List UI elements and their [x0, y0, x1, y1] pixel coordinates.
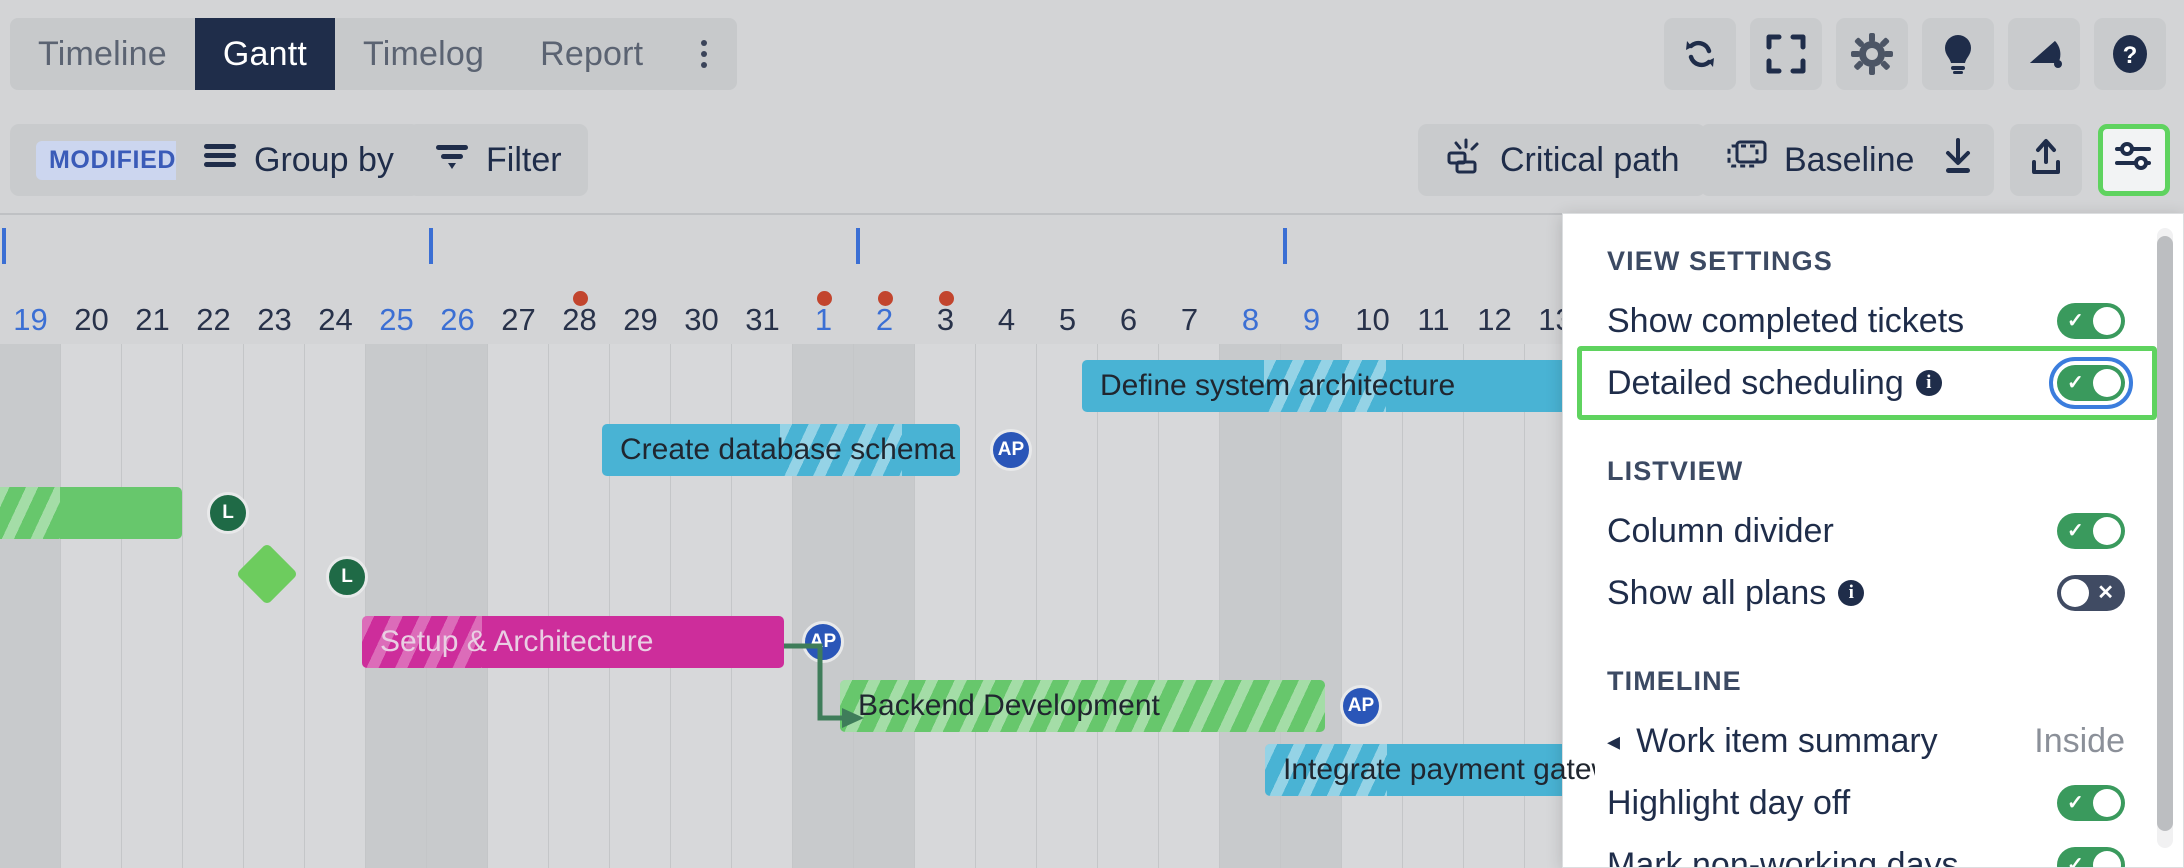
setting-label: Mark non-working days — [1607, 846, 1958, 868]
tab-bar: TimelineGanttTimelogReport ? — [0, 0, 2184, 108]
avatar[interactable]: L — [326, 556, 368, 598]
day-header: 11 — [1403, 279, 1464, 344]
day-header: 12 — [1464, 279, 1525, 344]
view-settings-panel: VIEW SETTINGSShow completed tickets✓Deta… — [1562, 213, 2184, 868]
toggle-switch[interactable]: ✓ — [2057, 785, 2125, 821]
fullscreen-button[interactable] — [1750, 18, 1822, 90]
day-header: 20 — [61, 279, 122, 344]
help-icon: ? — [2108, 32, 2152, 76]
holiday-dot — [817, 291, 832, 306]
avatar[interactable]: L — [207, 492, 249, 534]
critical-path-button[interactable]: Critical path — [1418, 124, 1706, 196]
toggle-switch[interactable]: ✓ — [2057, 513, 2125, 549]
day-header: 10 — [1342, 279, 1403, 344]
gantt-day-column — [671, 344, 732, 868]
day-header: 23 — [244, 279, 305, 344]
gantt-bar[interactable]: Define system architecture — [1082, 360, 1582, 412]
lightbulb-icon — [1937, 32, 1979, 76]
baseline-label: Baseline — [1784, 141, 1914, 180]
day-header: 29 — [610, 279, 671, 344]
refresh-icon — [1678, 32, 1722, 76]
gantt-day-column — [549, 344, 610, 868]
setting-label: Show all plans — [1607, 574, 1826, 613]
holiday-dot — [878, 291, 893, 306]
modified-badge: MODIFIED — [36, 141, 189, 180]
setting-label-wrap: Detailed schedulingi — [1607, 364, 1942, 403]
avatar[interactable]: AP — [1340, 685, 1382, 727]
gantt-day-column — [0, 344, 61, 868]
toggle-knob — [2093, 789, 2121, 817]
toggle-switch[interactable]: ✓ — [2057, 847, 2125, 868]
critical-path-icon — [1444, 137, 1484, 184]
gantt-bar-label: Define system architecture — [1100, 369, 1455, 403]
setting-row-column-divider[interactable]: Column divider✓ — [1563, 500, 2155, 562]
refresh-button[interactable] — [1664, 18, 1736, 90]
bell-icon — [2022, 33, 2066, 75]
sliders-icon — [2113, 137, 2155, 184]
check-icon: ✓ — [2067, 852, 2084, 868]
gantt-toolbar: MODIFIED Group by Filter — [0, 108, 2184, 213]
tab-gantt[interactable]: Gantt — [195, 18, 335, 90]
day-header: 25 — [366, 279, 427, 344]
gantt-bar[interactable]: Create database schema — [602, 424, 960, 476]
setting-label: Column divider — [1607, 512, 1834, 551]
setting-label-wrap: Mark non-working days — [1607, 846, 1958, 868]
filter-icon — [434, 141, 470, 180]
critical-path-label: Critical path — [1500, 141, 1680, 180]
download-icon — [1939, 136, 1977, 185]
setting-label-wrap: ◂Work item summary — [1607, 722, 1938, 761]
hamburger-icon — [202, 141, 238, 180]
download-button[interactable] — [1922, 124, 1994, 196]
week-header — [2, 213, 429, 279]
day-header: 4 — [976, 279, 1037, 344]
tab-report[interactable]: Report — [512, 18, 671, 90]
setting-label: Work item summary — [1636, 722, 1938, 761]
toggle-knob — [2061, 579, 2089, 607]
group-by-label: Group by — [254, 141, 394, 180]
toggle-knob — [2093, 517, 2121, 545]
check-icon: ✓ — [2067, 790, 2084, 815]
gantt-day-column — [610, 344, 671, 868]
gantt-day-column — [915, 344, 976, 868]
gantt-day-column — [488, 344, 549, 868]
day-header: 3 — [915, 279, 976, 344]
panel-section-title: LISTVIEW — [1563, 456, 1743, 487]
panel-section-title: TIMELINE — [1563, 666, 1742, 697]
gantt-day-column — [1037, 344, 1098, 868]
day-header: 21 — [122, 279, 183, 344]
week-header — [856, 213, 1283, 279]
gantt-day-column — [732, 344, 793, 868]
group-by-button[interactable]: Group by — [176, 124, 420, 196]
upload-icon — [2027, 136, 2065, 185]
gantt-day-column — [1098, 344, 1159, 868]
holiday-dot — [939, 291, 954, 306]
gantt-bar-label: Backend Development — [858, 689, 1160, 723]
day-header: 28 — [549, 279, 610, 344]
day-header: 19 — [0, 279, 61, 344]
gantt-bar[interactable] — [0, 487, 182, 539]
toggle-knob — [2093, 307, 2121, 335]
gantt-bar-label: Create database schema — [620, 433, 955, 467]
day-header: 22 — [183, 279, 244, 344]
dependency-arrow — [780, 634, 900, 764]
gantt-day-column — [1159, 344, 1220, 868]
setting-label-wrap: Highlight day off — [1607, 784, 1850, 823]
gantt-day-column — [366, 344, 427, 868]
gantt-day-column — [122, 344, 183, 868]
gantt-bar-label: Setup & Architecture — [380, 625, 654, 659]
gantt-day-column — [976, 344, 1037, 868]
setting-row-detailed-scheduling[interactable]: Detailed schedulingi✓ — [1563, 352, 2155, 414]
day-header: 9 — [1281, 279, 1342, 344]
day-header: 31 — [732, 279, 793, 344]
gantt-day-column — [244, 344, 305, 868]
day-header: 27 — [488, 279, 549, 344]
day-header: 5 — [1037, 279, 1098, 344]
bell-button[interactable] — [2008, 18, 2080, 90]
setting-row-highlight-day-off[interactable]: Highlight day off✓ — [1563, 772, 2155, 834]
day-header: 6 — [1098, 279, 1159, 344]
lightbulb-button[interactable] — [1922, 18, 1994, 90]
gantt-bar[interactable]: Integrate payment gateway — [1265, 744, 1595, 796]
toggle-knob — [2093, 369, 2121, 397]
week-separator — [1283, 228, 1287, 264]
toggle-switch[interactable]: ✕ — [2057, 575, 2125, 611]
avatar[interactable]: AP — [990, 429, 1032, 471]
setting-label: Highlight day off — [1607, 784, 1850, 823]
filter-label: Filter — [486, 141, 562, 180]
svg-text:?: ? — [2123, 42, 2138, 69]
gantt-day-column — [427, 344, 488, 868]
gantt-day-column — [854, 344, 915, 868]
check-icon: ✓ — [2067, 518, 2084, 543]
gantt-bar[interactable]: Backend Development — [840, 680, 1325, 732]
check-icon: ✓ — [2067, 308, 2084, 333]
view-settings-button[interactable] — [2098, 124, 2170, 196]
chevron-left-icon[interactable]: ◂ — [1607, 726, 1620, 757]
toggle-switch[interactable]: ✓ — [2057, 365, 2125, 401]
tab-timelog[interactable]: Timelog — [335, 18, 512, 90]
toggle-switch[interactable]: ✓ — [2057, 303, 2125, 339]
setting-label-wrap: Show all plansi — [1607, 574, 1864, 613]
panel-section-title: VIEW SETTINGS — [1563, 246, 1833, 277]
info-icon[interactable]: i — [1838, 580, 1864, 606]
day-header: 30 — [671, 279, 732, 344]
setting-row-show-all-plans[interactable]: Show all plansi✕ — [1563, 562, 2155, 624]
gantt-day-column — [183, 344, 244, 868]
gantt-bar-label: Integrate payment gateway — [1283, 753, 1595, 787]
upload-button[interactable] — [2010, 124, 2082, 196]
info-icon[interactable]: i — [1916, 370, 1942, 396]
gantt-day-column — [793, 344, 854, 868]
setting-label: Detailed scheduling — [1607, 364, 1904, 403]
baseline-icon — [1726, 138, 1768, 183]
baseline-button[interactable]: Baseline — [1700, 124, 1940, 196]
setting-value[interactable]: Inside — [2034, 722, 2125, 761]
tab-overflow-menu-icon[interactable] — [671, 18, 737, 90]
day-header: 2 — [854, 279, 915, 344]
setting-label: Show completed tickets — [1607, 302, 1964, 341]
gantt-bar-hatch — [0, 487, 60, 539]
day-header: 7 — [1159, 279, 1220, 344]
fullscreen-icon — [1765, 33, 1807, 75]
tab-timeline[interactable]: Timeline — [10, 18, 195, 90]
close-icon: ✕ — [2097, 580, 2114, 605]
gear-icon — [1850, 32, 1894, 76]
panel-scrollbar[interactable] — [2157, 228, 2173, 848]
week-separator — [856, 228, 860, 264]
toggle-knob — [2093, 851, 2121, 868]
filter-button[interactable]: Filter — [408, 124, 588, 196]
day-header: 24 — [305, 279, 366, 344]
day-header: 8 — [1220, 279, 1281, 344]
setting-label-wrap: Column divider — [1607, 512, 1834, 551]
gantt-day-column — [305, 344, 366, 868]
help-button[interactable]: ? — [2094, 18, 2166, 90]
check-icon: ✓ — [2067, 370, 2084, 395]
setting-label-wrap: Show completed tickets — [1607, 302, 1964, 341]
day-header: 1 — [793, 279, 854, 344]
week-header — [429, 213, 856, 279]
view-tabs: TimelineGanttTimelogReport — [10, 18, 737, 90]
setting-row-work-item-summary[interactable]: ◂Work item summaryInside — [1563, 710, 2155, 772]
day-header: 26 — [427, 279, 488, 344]
setting-row-show-completed-tickets[interactable]: Show completed tickets✓ — [1563, 290, 2155, 352]
week-separator — [2, 228, 6, 264]
holiday-dot — [573, 291, 588, 306]
week-separator — [429, 228, 433, 264]
panel-scrollbar-thumb[interactable] — [2157, 236, 2173, 831]
setting-row-mark-non-working-days[interactable]: Mark non-working days✓ — [1563, 834, 2155, 868]
gantt-bar[interactable]: Setup & Architecture — [362, 616, 784, 668]
gear-button[interactable] — [1836, 18, 1908, 90]
top-icon-bar: ? — [1664, 18, 2166, 90]
gantt-day-column — [61, 344, 122, 868]
